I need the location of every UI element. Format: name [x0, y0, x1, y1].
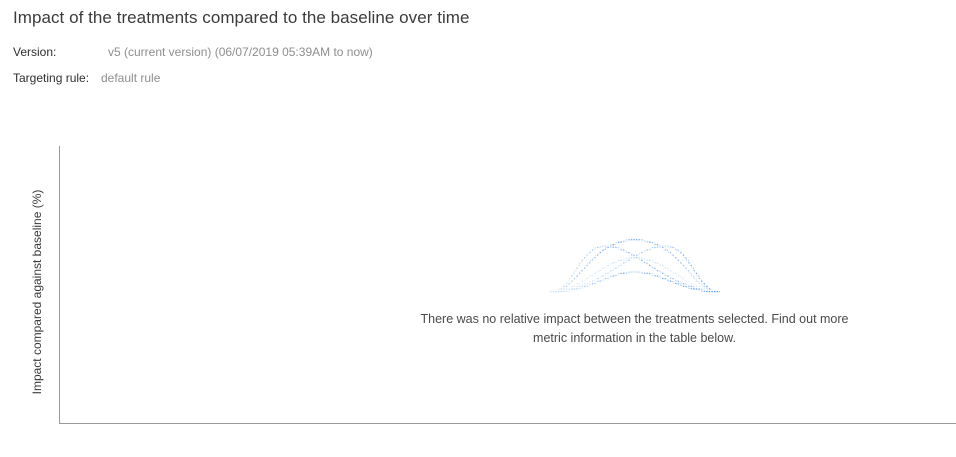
page-title: Impact of the treatments compared to the…	[13, 8, 470, 28]
version-row: Version:v5 (current version) (06/07/2019…	[13, 45, 373, 59]
version-label: Version:	[13, 45, 108, 59]
chart-x-axis-line	[59, 423, 956, 424]
version-value: v5 (current version) (06/07/2019 05:39AM…	[108, 45, 373, 59]
overlapping-bell-curves-icon	[545, 218, 725, 298]
empty-state-message-line-1: There was no relative impact between the…	[421, 312, 849, 326]
targeting-rule-label: Targeting rule:	[13, 71, 101, 85]
chart-y-axis-line	[59, 146, 60, 424]
empty-state-message-line-2: metric information in the table below.	[533, 331, 736, 345]
targeting-rule-value: default rule	[101, 71, 160, 85]
empty-state: There was no relative impact between the…	[378, 218, 891, 348]
chart-y-axis-title: Impact compared against baseline (%)	[30, 166, 44, 418]
targeting-rule-row: Targeting rule:default rule	[13, 71, 160, 85]
empty-state-message: There was no relative impact between the…	[378, 310, 891, 348]
